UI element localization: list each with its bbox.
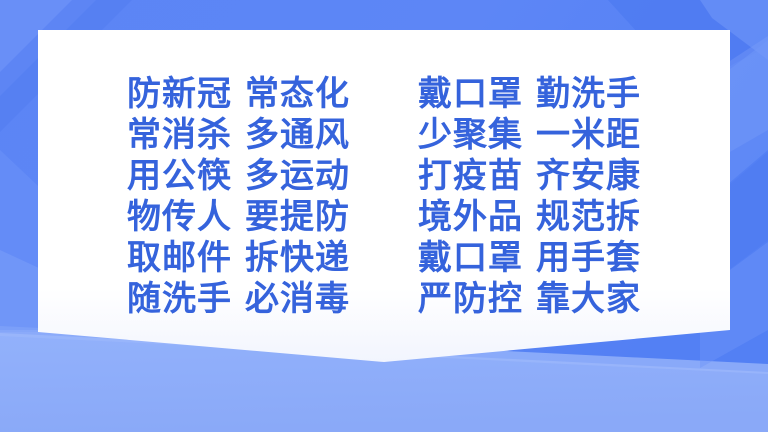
slogan-line: 常消杀 多通风: [127, 115, 350, 156]
slogan-segment-second: 勤洗手: [536, 74, 641, 115]
slogan-segment-second: 要提防: [245, 197, 350, 238]
slogan-segment-second: 用手套: [536, 238, 641, 279]
slogan-line: 随洗手 必消毒: [127, 279, 350, 320]
slogan-segment-second: 一米距: [536, 115, 641, 156]
slogan-segment-first: 严防控: [418, 279, 523, 320]
slogan-grid: 防新冠 常态化 常消杀 多通风 用公筷 多运动 物传人 要提防 取邮件 拆快: [127, 74, 641, 320]
slogan-line: 少聚集 一米距: [418, 115, 641, 156]
slogan-segment-first: 打疫苗: [418, 156, 523, 197]
slogan-column-right: 戴口罩 勤洗手 少聚集 一米距 打疫苗 齐安康 境外品 规范拆 戴口罩 用手: [418, 74, 641, 320]
slogan-line: 严防控 靠大家: [418, 279, 641, 320]
slogan-line: 戴口罩 用手套: [418, 238, 641, 279]
slogan-segment-second: 拆快递: [245, 238, 350, 279]
slogan-segment-second: 规范拆: [536, 197, 641, 238]
slogan-line: 境外品 规范拆: [418, 197, 641, 238]
slogan-segment-first: 少聚集: [418, 115, 523, 156]
slogan-segment-first: 常消杀: [127, 115, 232, 156]
slogan-segment-first: 境外品: [418, 197, 523, 238]
slogan-segment-second: 靠大家: [536, 279, 641, 320]
slogan-segment-first: 用公筷: [127, 156, 232, 197]
slogan-segment-first: 随洗手: [127, 279, 232, 320]
slogan-segment-first: 戴口罩: [418, 74, 523, 115]
slogan-segment-first: 物传人: [127, 197, 232, 238]
slogan-segment-second: 多通风: [245, 115, 350, 156]
slogan-line: 防新冠 常态化: [127, 74, 350, 115]
slogan-segment-second: 必消毒: [245, 279, 350, 320]
slogan-segment-first: 戴口罩: [418, 238, 523, 279]
poster-root: 防新冠 常态化 常消杀 多通风 用公筷 多运动 物传人 要提防 取邮件 拆快: [0, 0, 768, 432]
slogan-container: 防新冠 常态化 常消杀 多通风 用公筷 多运动 物传人 要提防 取邮件 拆快: [0, 0, 768, 432]
slogan-segment-second: 常态化: [245, 74, 350, 115]
slogan-segment-second: 齐安康: [536, 156, 641, 197]
slogan-column-left: 防新冠 常态化 常消杀 多通风 用公筷 多运动 物传人 要提防 取邮件 拆快: [127, 74, 350, 320]
slogan-segment-first: 防新冠: [127, 74, 232, 115]
slogan-segment-first: 取邮件: [127, 238, 232, 279]
slogan-line: 用公筷 多运动: [127, 156, 350, 197]
slogan-line: 戴口罩 勤洗手: [418, 74, 641, 115]
slogan-segment-second: 多运动: [245, 156, 350, 197]
slogan-line: 打疫苗 齐安康: [418, 156, 641, 197]
slogan-line: 物传人 要提防: [127, 197, 350, 238]
slogan-line: 取邮件 拆快递: [127, 238, 350, 279]
